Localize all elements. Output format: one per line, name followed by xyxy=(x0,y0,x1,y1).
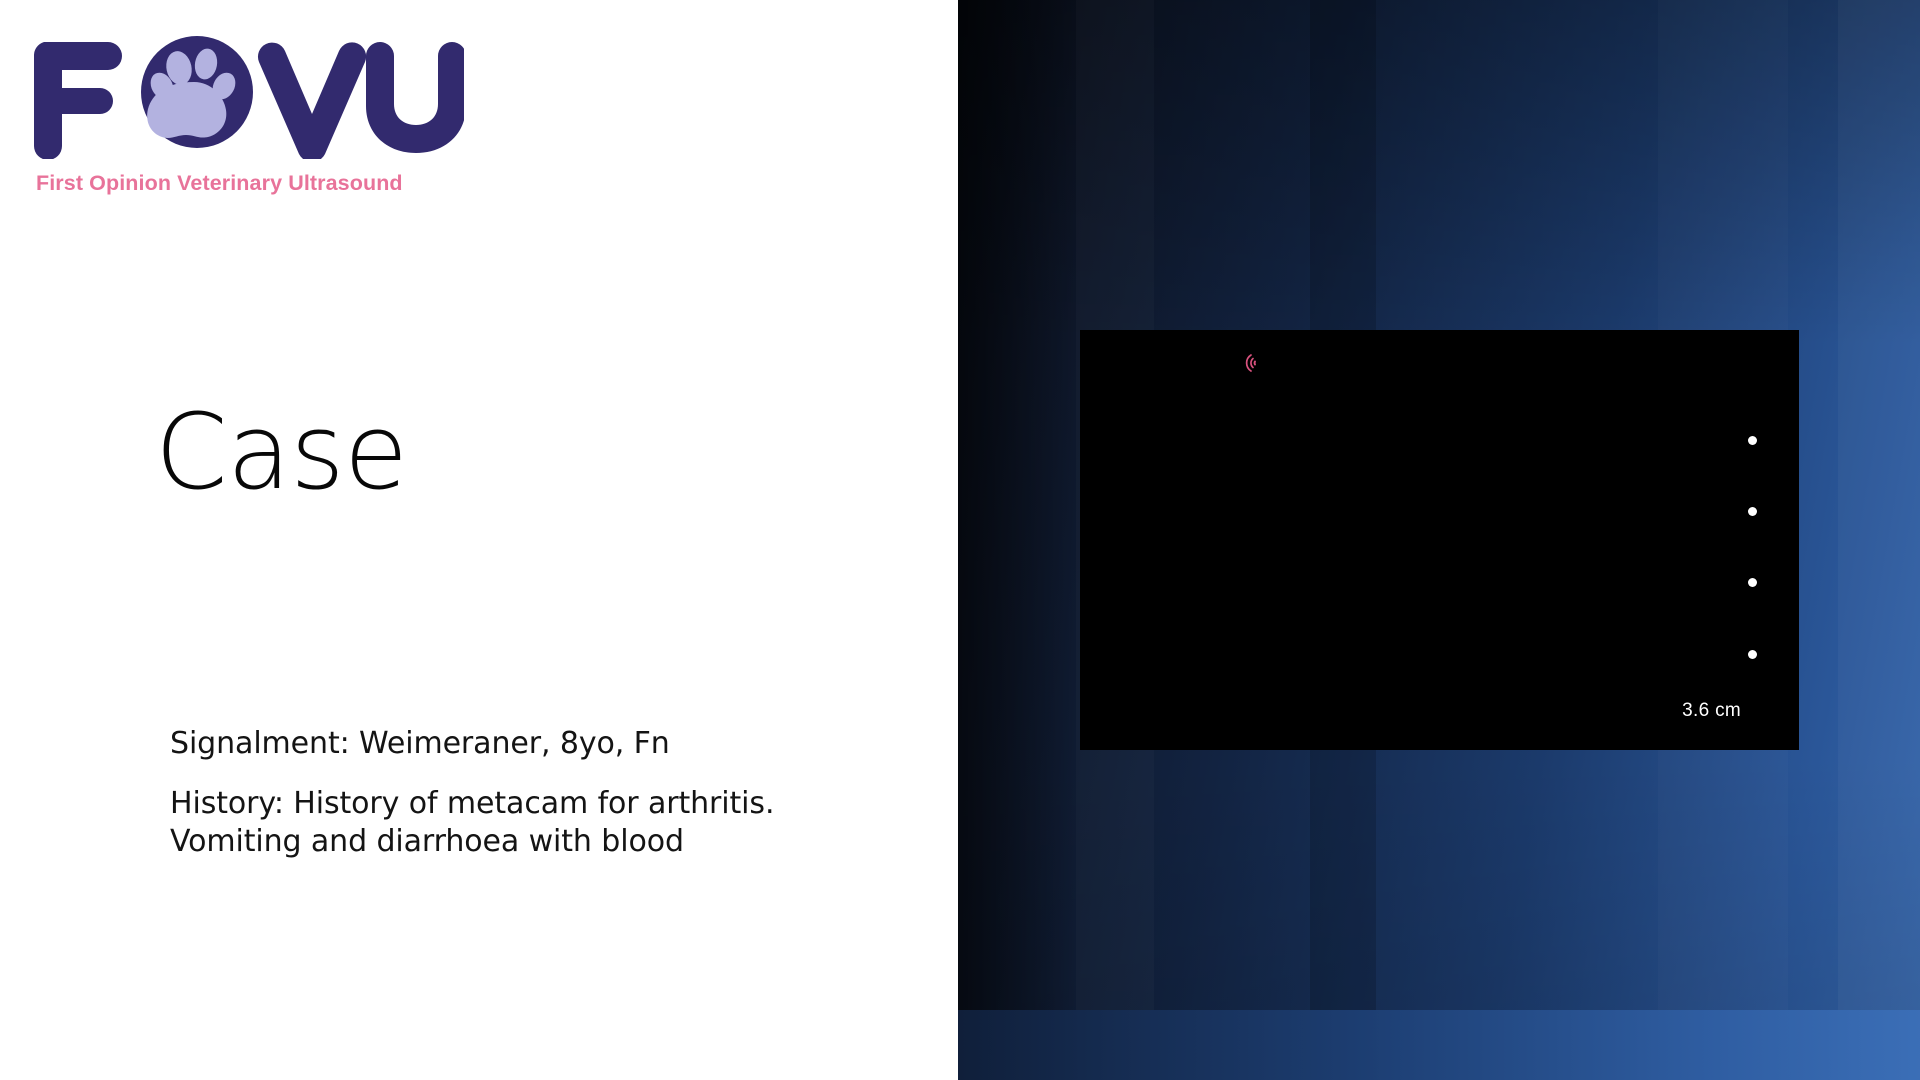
depth-tick xyxy=(1748,436,1757,445)
depth-label: 3.6 cm xyxy=(1682,700,1741,722)
background-band xyxy=(958,0,1076,1080)
right-image-panel: 3.6 cm xyxy=(958,0,1920,1080)
brand-logo: First Opinion Veterinary Ultrasound xyxy=(34,24,504,196)
left-content-panel: First Opinion Veterinary Ultrasound Case… xyxy=(0,0,958,1080)
depth-tick xyxy=(1748,578,1757,587)
fovu-wordmark-icon xyxy=(34,24,464,159)
case-details: Signalment: Weimeraner, 8yo, Fn History:… xyxy=(170,725,870,861)
signalment-line: Signalment: Weimeraner, 8yo, Fn xyxy=(170,725,870,763)
ultrasound-image: 3.6 cm xyxy=(1080,330,1799,750)
background-band xyxy=(1838,0,1920,1080)
brand-tagline: First Opinion Veterinary Ultrasound xyxy=(36,171,504,196)
ultrasound-scan-canvas xyxy=(1080,330,1799,750)
page-title: Case xyxy=(155,400,408,504)
probe-orientation-icon xyxy=(1235,350,1261,376)
depth-tick xyxy=(1748,507,1757,516)
background-bottom-band xyxy=(958,1010,1920,1080)
depth-tick xyxy=(1748,650,1757,659)
history-line: History: History of metacam for arthriti… xyxy=(170,785,870,861)
slide-canvas: First Opinion Veterinary Ultrasound Case… xyxy=(0,0,1920,1080)
